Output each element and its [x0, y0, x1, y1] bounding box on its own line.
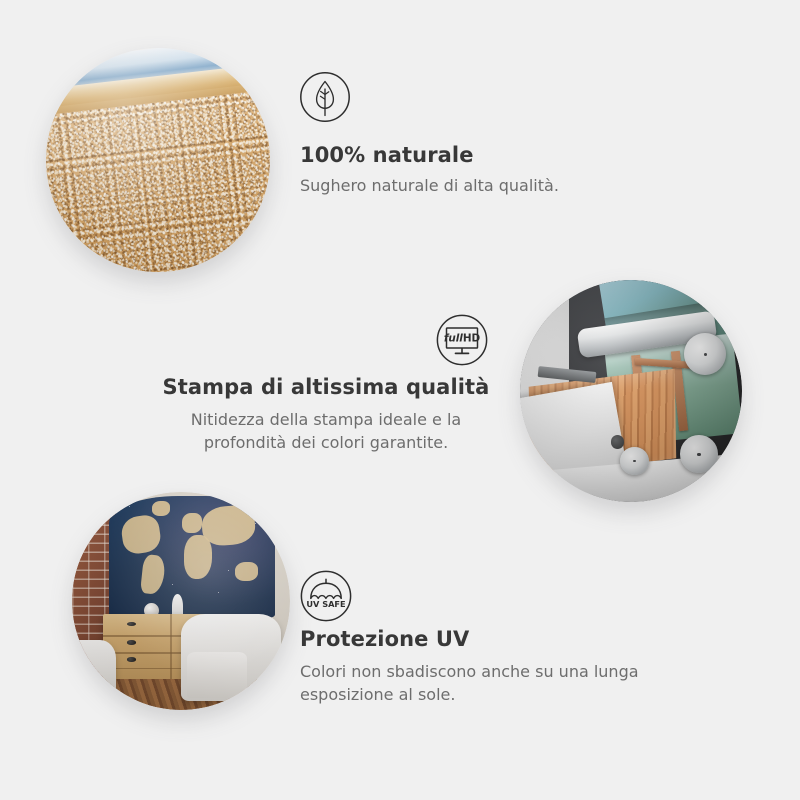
- feature-highlights-page: 100% naturale Sughero naturale di alta q…: [0, 0, 800, 800]
- svg-text:fullHD: fullHD: [444, 333, 481, 345]
- feature-block-natural: 100% naturale Sughero naturale di alta q…: [300, 142, 630, 197]
- feature-description-line-1: Nitidezza della stampa ideale e la: [160, 408, 492, 431]
- feature-title-uv-protection: Protezione UV: [300, 626, 680, 653]
- feature-description-line-2: esposizione al sole.: [300, 683, 680, 706]
- cork-board-photo-inner: [46, 48, 270, 272]
- feature-title-natural: 100% naturale: [300, 142, 630, 168]
- printer-photo-inner: [520, 280, 742, 502]
- feature-description-uv-protection: Colori non sbadiscono anche su una lunga…: [300, 660, 680, 706]
- uv-safe-label: UV SAFE: [306, 599, 345, 609]
- printer-photo-shading: [520, 280, 742, 502]
- interior-room-world-map-photo: [72, 492, 290, 710]
- feature-description-print-quality: Nitidezza della stampa ideale e la profo…: [160, 408, 492, 454]
- cork-board-photo: [46, 48, 270, 272]
- feature-description-line-1: Colori non sbadiscono anche su una lunga: [300, 660, 680, 683]
- uv-safe-umbrella-icon: UV SAFE: [298, 568, 354, 628]
- feature-description-line-2: profondità dei colori garantite.: [160, 431, 492, 454]
- fullhd-monitor-icon: fullHD: [434, 312, 490, 372]
- feature-block-uv-protection: Protezione UV Colori non sbadiscono anch…: [300, 626, 680, 706]
- cork-photo-shading: [46, 48, 270, 272]
- feature-block-print-quality: Stampa di altissima qualità Nitidezza de…: [160, 374, 492, 454]
- large-format-printer-photo: [520, 280, 742, 502]
- feature-title-print-quality: Stampa di altissima qualità: [160, 374, 492, 401]
- feature-description-natural: Sughero naturale di alta qualità.: [300, 175, 630, 197]
- room-photo-inner: [72, 492, 290, 710]
- leaf-icon: [298, 70, 352, 128]
- room-photo-shading: [72, 492, 290, 710]
